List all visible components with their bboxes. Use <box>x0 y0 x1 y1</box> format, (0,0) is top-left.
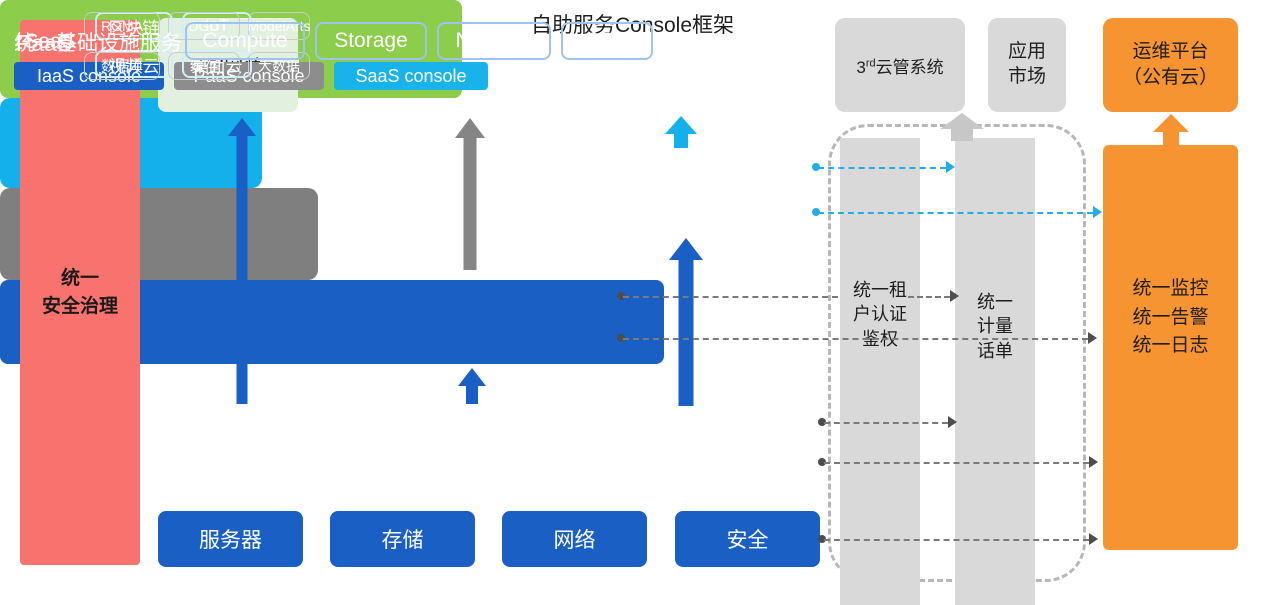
arrow-infra-to-api-gateway <box>228 118 256 404</box>
dashed-arrowhead-paas-to-ops <box>1088 332 1097 344</box>
unified-billing-column: 统一计量话单 <box>955 138 1035 605</box>
dashed-line-auth-to-billing <box>908 296 950 298</box>
app-market-label: 应用市场 <box>1008 40 1046 89</box>
dashed-line-saas-to-ops <box>818 212 1093 214</box>
dashed-arrowhead-auth-to-billing <box>950 290 959 302</box>
dashed-arrowhead-infra-to-billing <box>948 416 957 428</box>
ops-platform-label: 运维平台（公有云） <box>1123 39 1218 90</box>
infrastructure-service-label: 统一基础设施服务 <box>14 27 182 57</box>
third-party-cloud-mgmt-box: 3rd云管系统 <box>835 18 965 112</box>
security-governance-panel: 统一安全治理 <box>20 20 140 565</box>
dashed-line-paas-to-auth <box>623 296 838 298</box>
arrow-infra-to-saas <box>669 238 703 406</box>
dashed-line-infra-to-billing <box>824 422 948 424</box>
infra-chip-storage[interactable]: Storage <box>315 22 427 60</box>
infra-chip-network[interactable]: Network <box>437 22 551 60</box>
security-governance-label: 统一安全治理 <box>42 265 118 320</box>
ops-monitoring-column: 统一监控统一告警统一日志 <box>1103 145 1238 550</box>
dashed-line-infra-to-ops <box>824 462 1089 464</box>
third-party-cloud-mgmt-label: 3rd云管系统 <box>856 53 943 78</box>
ops-platform-box: 运维平台（公有云） <box>1103 18 1238 112</box>
arrow-ops-column-to-platform <box>1153 114 1189 146</box>
resource-box-server: 服务器 <box>158 511 303 567</box>
app-market-box: 应用市场 <box>988 18 1066 112</box>
unified-tenant-auth-column: 统一租户认证鉴权 <box>840 138 920 605</box>
dashed-arrowhead-security-to-ops <box>1089 533 1098 545</box>
dashed-line-paas-to-ops <box>623 338 1088 340</box>
dashed-line-security-to-ops <box>824 539 1089 541</box>
infra-chip-cce[interactable]: CCE <box>561 22 653 60</box>
dashed-line-saas-to-billing <box>818 167 946 169</box>
resource-box-storage: 存储 <box>330 511 475 567</box>
ops-monitoring-label: 统一监控统一告警统一日志 <box>1132 275 1208 361</box>
arrow-paas-to-console <box>455 118 485 270</box>
resource-box-network: 网络 <box>502 511 647 567</box>
dashed-arrowhead-saas-to-billing <box>946 161 955 173</box>
infra-chip-compute[interactable]: Compute <box>185 22 305 60</box>
unified-billing-label: 统一计量话单 <box>977 290 1013 363</box>
saas-console-badge[interactable]: SaaS console <box>334 62 488 90</box>
dashed-arrowhead-infra-to-ops <box>1089 456 1098 468</box>
arrow-saas-to-console <box>665 116 697 148</box>
arrow-infra-to-paas <box>458 368 486 404</box>
resource-box-security: 安全 <box>675 511 820 567</box>
architecture-diagram: 统一安全治理 API网关 自助服务Console框架 IaaS console … <box>0 0 1265 605</box>
arrow-shared-to-third-cloud <box>940 113 984 141</box>
dashed-arrowhead-saas-to-ops <box>1093 206 1102 218</box>
